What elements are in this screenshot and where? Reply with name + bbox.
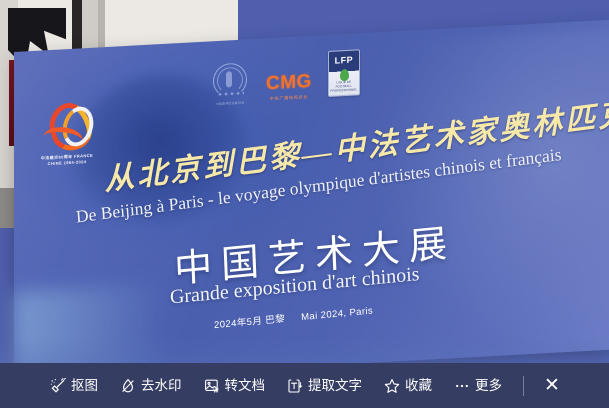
cmg-subtitle: 中央广播电视总台 — [266, 94, 312, 102]
lfp-wordmark: LFP — [329, 54, 359, 66]
star-icon — [384, 378, 400, 394]
magic-wand-icon — [50, 378, 66, 394]
toolbar-button-extract-text[interactable]: 提取文字 — [276, 373, 373, 399]
anniversary-60-mark — [41, 100, 93, 153]
toolbar-button-remove-watermark[interactable]: 去水印 — [109, 373, 193, 399]
toolbar-label-more: 更多 — [475, 379, 502, 393]
toolbar-label-remove-watermark: 去水印 — [141, 379, 182, 393]
image-to-word-icon: W — [204, 378, 220, 394]
photo-canvas[interactable]: 中法建交60周年 FRANCE CHINE 1964-2024 中国奥林匹克委员… — [0, 0, 609, 363]
watermark-remove-icon — [120, 378, 136, 394]
olympic-committee-emblem-icon: 中国奥林匹克委员会 — [210, 61, 250, 105]
anniversary-60-logo: 中法建交60周年 FRANCE CHINE 1964-2024 — [36, 99, 98, 188]
cmg-logo: CMG 中央广播电视总台 — [266, 72, 312, 102]
image-action-toolbar: 抠图 去水印 W 转文档 — [0, 363, 609, 408]
svg-text:W: W — [213, 388, 219, 393]
toolbar-divider — [523, 376, 524, 396]
toolbar-label-favorite: 收藏 — [405, 379, 432, 393]
cmg-wordmark: CMG — [266, 72, 312, 93]
close-icon: ✕ — [544, 375, 560, 396]
toolbar-label-to-document: 转文档 — [225, 379, 266, 393]
poster-date-line: 2024年5月 巴黎 Mai 2024, Paris — [214, 302, 374, 331]
anniversary-60-caption: 中法建交60周年 FRANCE CHINE 1964-2024 — [36, 152, 98, 167]
olympic-emblem-caption: 中国奥林匹克委员会 — [210, 100, 250, 106]
ellipsis-icon — [454, 378, 470, 394]
lfp-logo: LFP LIGUE DE FOOTBALL PROFESSIONNEL — [328, 49, 360, 97]
text-extract-icon — [287, 378, 303, 394]
lfp-subtitle: LIGUE DE FOOTBALL PROFESSIONNEL — [329, 79, 359, 93]
sponsor-logo-row: 中国奥林匹克委员会 CMG 中央广播电视总台 LFP LIGUE DE FOOT… — [210, 49, 360, 105]
image-preview-window: 中法建交60周年 FRANCE CHINE 1964-2024 中国奥林匹克委员… — [0, 0, 609, 408]
toolbar-button-to-document[interactable]: W 转文档 — [193, 373, 277, 399]
toolbar-button-favorite[interactable]: 收藏 — [373, 373, 443, 399]
photo-bottom-gradient — [0, 337, 609, 363]
poster-date-french: Mai 2024, Paris — [301, 305, 373, 323]
toolbar-label-cutout: 抠图 — [71, 379, 98, 393]
toolbar-button-more[interactable]: 更多 — [443, 373, 513, 399]
close-button[interactable]: ✕ — [534, 372, 570, 399]
poster-date-chinese: 2024年5月 巴黎 — [214, 314, 285, 332]
toolbar-label-extract-text: 提取文字 — [308, 379, 362, 393]
exhibition-banner: 中法建交60周年 FRANCE CHINE 1964-2024 中国奥林匹克委员… — [14, 20, 609, 363]
toolbar-button-cutout[interactable]: 抠图 — [39, 373, 109, 399]
